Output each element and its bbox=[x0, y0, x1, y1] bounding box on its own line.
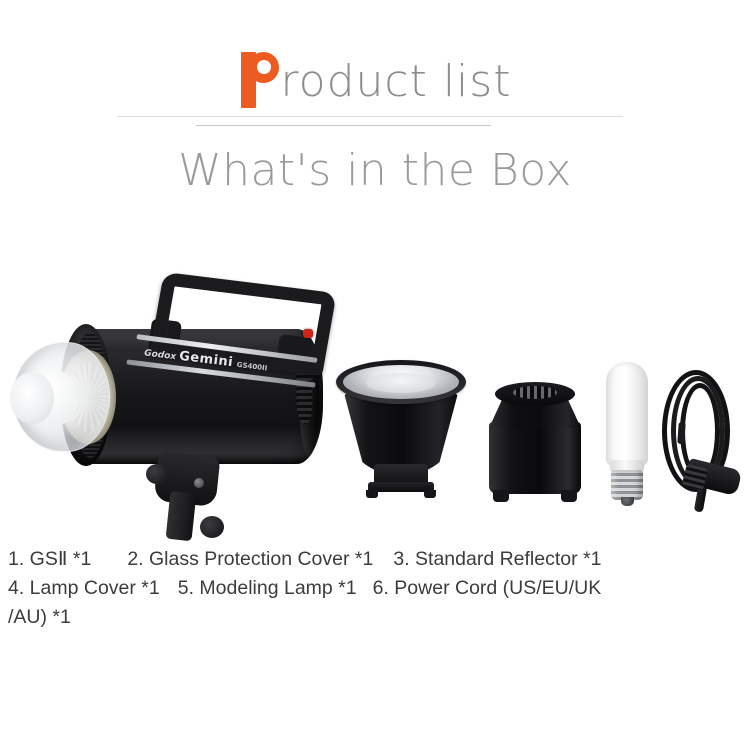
list-item-6: 6. Power Cord (US/EU/UK bbox=[373, 577, 602, 599]
flash-lock-knob bbox=[200, 516, 224, 538]
flash-red-button bbox=[303, 329, 313, 338]
product-power-cord bbox=[658, 368, 750, 514]
reflector-tab-right bbox=[424, 490, 436, 498]
box-contents-list: 1. GSⅡ *12. Glass Protection Cover *13. … bbox=[0, 545, 750, 632]
lamp-cover-foot-left bbox=[493, 490, 509, 502]
header-divider-long bbox=[117, 116, 623, 117]
flash-tilt-knob bbox=[146, 464, 168, 484]
lamp-cover-barrel bbox=[489, 422, 581, 494]
list-item-4: 4. Lamp Cover *1 bbox=[8, 577, 160, 599]
reflector-inner-highlight bbox=[366, 373, 436, 393]
lamp-cover-foot-right bbox=[561, 490, 577, 502]
list-item-1: 1. GSⅡ *1 bbox=[8, 548, 91, 570]
product-flash-head: GodoxGeminiGS400II bbox=[8, 254, 338, 544]
header-divider-short bbox=[196, 125, 491, 126]
box-contents-line-3: /AU) *1 bbox=[0, 603, 750, 632]
page-title: roduct list bbox=[281, 60, 512, 104]
product-modeling-lamp bbox=[600, 362, 656, 508]
stylized-p-logo-icon bbox=[239, 52, 279, 108]
modeling-lamp-glass bbox=[606, 362, 648, 466]
list-item-6-continued: /AU) *1 bbox=[8, 606, 71, 628]
glass-protection-cover-tip bbox=[10, 372, 54, 424]
flash-pivot-screw bbox=[194, 478, 204, 488]
brand-title: roduct list bbox=[239, 52, 512, 108]
page-header: roduct list bbox=[0, 52, 750, 108]
list-item-2: 2. Glass Protection Cover *1 bbox=[127, 548, 373, 570]
product-list-page: roduct list What's in the Box GodoxGemin… bbox=[0, 0, 750, 750]
product-photo-group: GodoxGeminiGS400II bbox=[0, 232, 750, 532]
list-item-5: 5. Modeling Lamp *1 bbox=[178, 577, 357, 599]
box-contents-line-1: 1. GSⅡ *12. Glass Protection Cover *13. … bbox=[0, 545, 750, 574]
product-lamp-cover bbox=[487, 382, 583, 504]
modeling-lamp-screw-base bbox=[611, 470, 643, 500]
product-standard-reflector bbox=[336, 360, 466, 500]
modeling-lamp-contact-tip bbox=[621, 497, 634, 506]
reflector-tab-left bbox=[366, 490, 378, 498]
list-item-3: 3. Standard Reflector *1 bbox=[393, 548, 601, 570]
box-contents-line-2: 4. Lamp Cover *15. Modeling Lamp *16. Po… bbox=[0, 574, 750, 603]
section-subtitle: What's in the Box bbox=[0, 145, 750, 196]
flash-mount-stem bbox=[166, 491, 197, 541]
model-number-text: GS400II bbox=[236, 361, 267, 373]
lamp-cover-vent-slots bbox=[513, 386, 557, 399]
